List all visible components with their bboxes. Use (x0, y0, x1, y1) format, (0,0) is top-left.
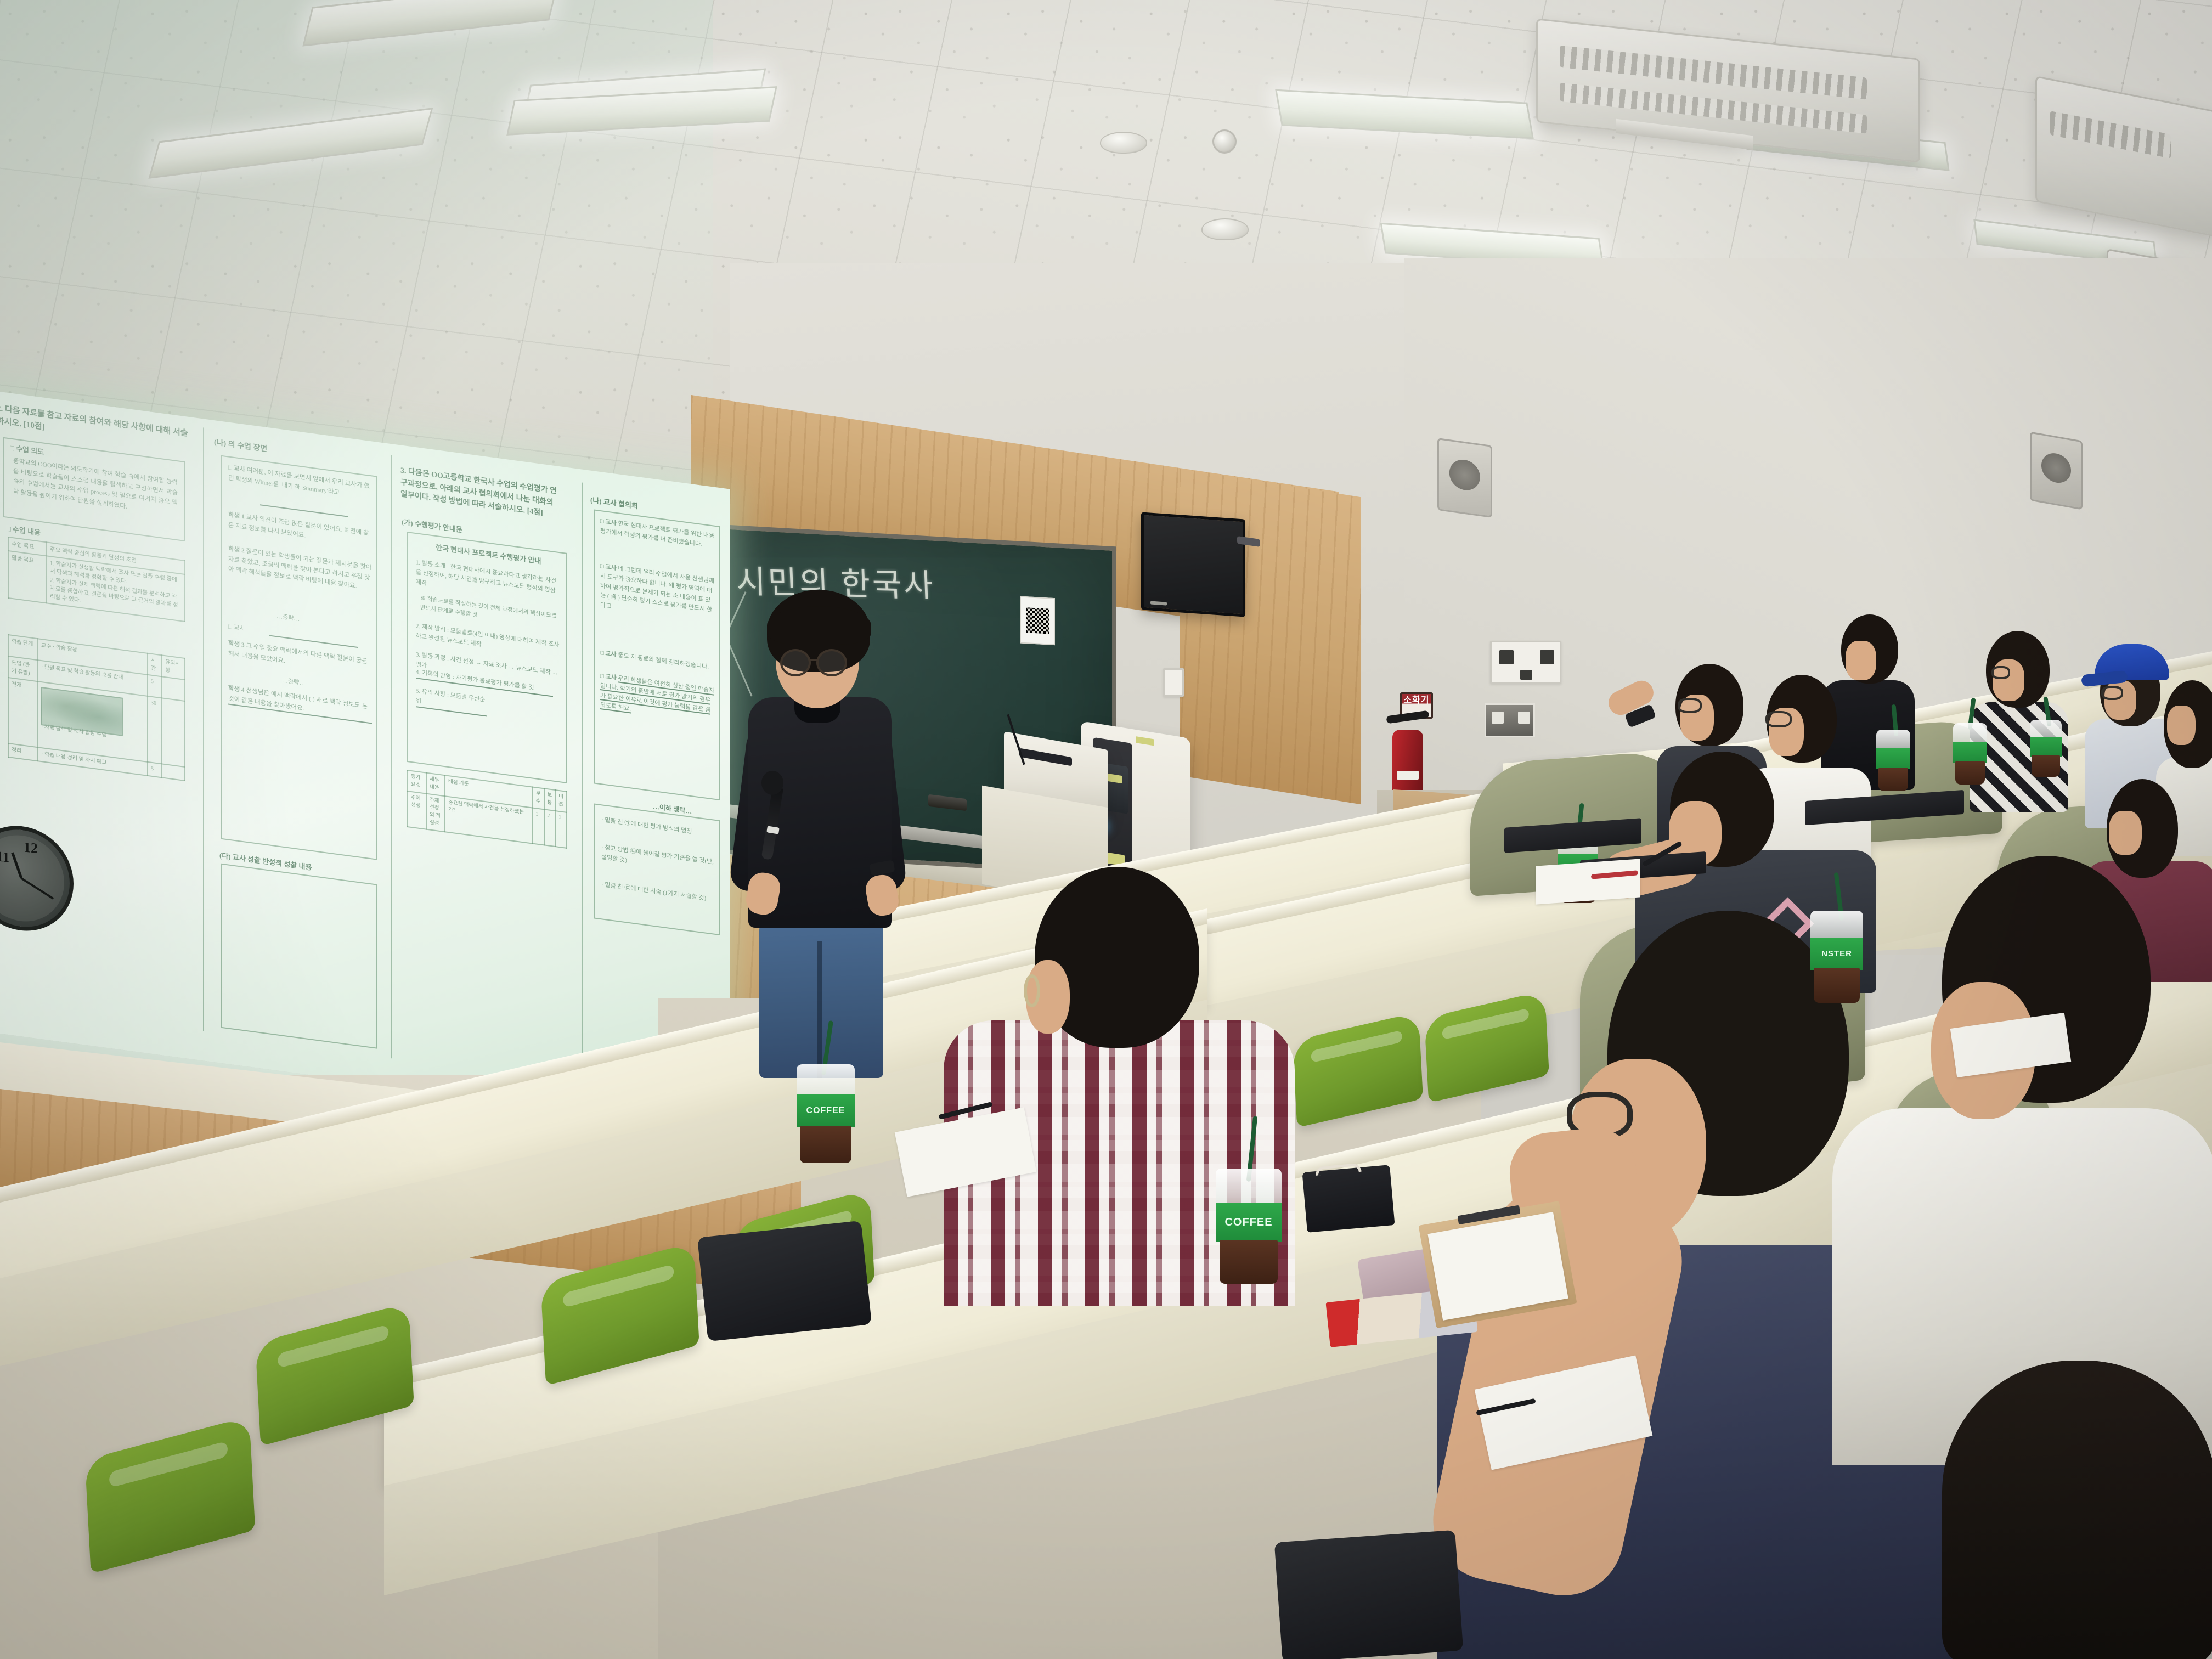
slide-col4-f2: · 밑줄 친 ㉢에 대한 서술 (1가지 서술할 것) (601, 880, 714, 905)
slide-col1-t2-r2c2: 5 (148, 762, 162, 777)
slide-col2-b0: □ 교사 여러분, 이 자료를 보면서 앞에서 우리 교사가 했던 학생의 Wi… (228, 463, 372, 503)
black-pencil-pouch[interactable] (1302, 1165, 1395, 1233)
iced-coffee-cup-3[interactable]: NSTER (1810, 911, 1863, 1003)
cup-sleeve-2: COFFEE (1216, 1203, 1282, 1242)
slide-col1-t2-r1c3 (162, 698, 185, 767)
slide-col4-b3-text: 우리 학생들은 여전히 성장 중인 학습자입니다. 학기의 중반에 서로 평가 … (600, 675, 714, 714)
cup-lid-5 (1876, 730, 1910, 751)
slide-col3-box: 한국 현대사 프로젝트 수행평가 안내 1. 활동 소개 : 한국 현대사에서 … (407, 532, 567, 783)
clock-hour-hand (11, 853, 22, 879)
cup-sleeve-7 (2030, 737, 2062, 756)
slide-col2-b1-text: 교사 의견이 조금 많은 질문이 있어요. 예전에 찾은 자료 정보를 다시 보… (228, 514, 369, 539)
slide-col4-b1-text: 네 그런데 우리 수업에서 사용 선생님께서 도구가 중요하다 합니다. 왜 평… (600, 565, 714, 613)
slide-col3-t-col1: 세부 내용 (426, 773, 445, 796)
slide-col2-b7-label: 학생 4 (228, 685, 245, 694)
slide-col4-footer-box: · 밑줄 친 ㉠에 대한 평가 방식의 명칭 · 참고 방법 ㉡에 들어갈 평가… (594, 803, 720, 935)
slide-col3-heading: 3. 다음은 OO고등학교 한국사 수업의 수업평가 연구과정으로, 아래의 교… (400, 465, 561, 522)
panel-switch-2[interactable] (1540, 650, 1554, 664)
clock-numeral-11: 11 (0, 848, 10, 866)
slide-col4-b0: □ 교사 한국 현대사 프로젝트 평가를 위한 내용 평가에서 학생의 평가를 … (600, 517, 715, 552)
fire-extinguisher-sign-label: 소화기 (1402, 694, 1431, 704)
presenter-jeans-seam (817, 941, 822, 1078)
attendee-hair-11 (1942, 1361, 2212, 1659)
slide-col2-box: □ 교사 여러분, 이 자료를 보면서 앞에서 우리 교사가 했던 학생의 Wi… (221, 455, 377, 860)
presenter-hair-fringe (767, 606, 871, 645)
cup-sleeve-6 (1953, 742, 1987, 763)
cup-lid-3 (1810, 911, 1863, 942)
slide-col2-b5: 학생 3 그 수업 중요 맥락에서의 다른 맥락 질문이 궁금해서 내용을 모았… (228, 639, 372, 678)
clock-minute-hand (21, 877, 54, 899)
slide-col3-t-col5: 미흡 (555, 790, 567, 812)
light-switch-plate[interactable] (1163, 668, 1184, 697)
cup-liquid-1 (800, 1126, 851, 1163)
panel-switch-1[interactable] (1499, 650, 1514, 664)
slide-col4-b0-text: 한국 현대사 프로젝트 평가를 위한 내용 평가에서 학생의 평가를 더 준비했… (600, 520, 714, 548)
cup-sleeve-3: NSTER (1810, 938, 1863, 969)
long-hair-foreground-attendee (1942, 1361, 2212, 1659)
slide-col3-t-r0c1: 주제 선정의 적절성 (426, 793, 445, 832)
slide-col2-heading: (나) 의 수업 장면 (214, 437, 267, 456)
slide-col1-table: 수업 목표 주요 맥락 중심의 활동과 달성의 초점 활동 목표 1. 학습자가… (8, 537, 185, 623)
cup-lid-6 (1953, 723, 1987, 744)
ceiling-speaker-left (1437, 438, 1492, 518)
clock-numeral-12: 12 (24, 839, 38, 857)
lecture-hall-photo: 시민의 한국사 소화기 2. 다음 자료를 참고 자료의 참여와 해당 사항에 … (0, 0, 2212, 1659)
cup-sleeve-1: COFFEE (797, 1094, 855, 1127)
iced-coffee-cup-6[interactable] (1953, 723, 1987, 785)
attendee-glasses-7 (1765, 711, 1792, 727)
electrical-panel-a (1490, 641, 1561, 684)
slide-col1-block1-label: □ 수업 내용 (7, 523, 41, 539)
extinguisher-label (1397, 771, 1419, 780)
cup-liquid-6 (1955, 761, 1985, 785)
slide-col2-b0-label: □ 교사 (228, 465, 245, 473)
cup-lid-1 (797, 1064, 855, 1098)
slide-col4-b2-label: □ 교사 (600, 650, 617, 658)
slide-col2-b2-text: 질문이 있는 학생들이 되는 질문과 제시문을 찾아 자료 찾았고, 조금씩 맥… (228, 548, 372, 590)
attendee-face-4 (2167, 706, 2196, 745)
presenter (735, 590, 944, 1073)
smoke-detector (1100, 132, 1147, 154)
slide-col2-b1-label: 학생 1 (228, 512, 245, 521)
cup-liquid-5 (1878, 768, 1909, 791)
slide-col4-b2-text: 좋으 지 동료와 함께 정리하겠습니다. (618, 652, 709, 670)
slide-col1-block0-text: 중학교의 OOO이라는 의도학기에 참여 학습 속에서 참여할 능력을 바탕으로… (13, 456, 178, 519)
backpack[interactable] (697, 1221, 872, 1341)
slide-col1-block0-label: □ 수업 의도 (10, 442, 44, 458)
slide-col3-table: 평가 요소 세부 내용 배점 기준 우수 보통 미흡 주제 선정 주제 선정의 … (407, 770, 567, 849)
slide-col4-f0: · 밑줄 친 ㉠에 대한 평가 방식의 명칭 (601, 815, 714, 840)
attendee-glasses-2 (1991, 666, 2010, 679)
slide-col2-b6: …중략… (282, 676, 305, 689)
slide-col4-b1-label: □ 교사 (600, 563, 617, 572)
clipboard-paper (1427, 1212, 1568, 1321)
wall-recess-panel (1485, 703, 1535, 737)
slide-col1-t2-col3: 유의사항 (162, 655, 185, 680)
slide-col1-t2-r0c2: 5 (148, 675, 162, 698)
wall-mounted-display[interactable] (1141, 512, 1245, 617)
slide-col4-f1: · 참고 방법 ㉡에 들어갈 평가 기준을 쓸 것(단, 설명할 것) (601, 843, 714, 877)
slide-col1-table2: 학습 단계 교수 · 학습 활동 시간 유의사항 도입 (동기 유발) · 단원… (8, 634, 185, 781)
presenter-glasses-left-lens (780, 649, 811, 676)
fire-extinguisher (1392, 730, 1423, 795)
slide-col3-t-col3: 우수 (533, 787, 544, 809)
cup-liquid-7 (2032, 755, 2059, 777)
slide-col3-t-col4: 보통 (544, 788, 556, 810)
cup-lid-7 (2030, 720, 2062, 739)
slide-col4-box: □ 교사 한국 현대사 프로젝트 평가를 위한 내용 평가에서 학생의 평가를 … (594, 509, 720, 800)
attendee-glasses-3 (2101, 686, 2123, 700)
slide-divider-1 (203, 427, 204, 1031)
iced-coffee-cup-2[interactable]: COFFEE (1216, 1169, 1282, 1284)
chair-handle-slot-5 (1311, 1030, 1402, 1063)
slide-col3-t-r0c5: 1 (555, 811, 567, 848)
slide-col3-t-r0c0: 주제 선정 (408, 791, 426, 830)
iced-coffee-cup-5[interactable] (1876, 730, 1910, 791)
qr-code-icon (1026, 607, 1049, 634)
lectern-sticker-3 (1136, 736, 1154, 746)
cup-liquid-3 (1814, 968, 1860, 1003)
sprinkler-head (1212, 129, 1237, 154)
qr-code-sign (1020, 596, 1055, 646)
iced-coffee-cup-1[interactable]: COFFEE (797, 1064, 855, 1163)
recess-switch-1[interactable] (1492, 712, 1504, 724)
slide-col3-item-5: 5. 유의 사항 : 모둠별 우선순위 (416, 686, 487, 716)
attendee-face-5 (2109, 811, 2142, 855)
ceiling-speaker-right (2030, 432, 2083, 510)
slide-col2-b0-text: 여러분, 이 자료를 보면서 앞에서 우리 교사가 했던 학생의 Winner를… (228, 467, 370, 496)
recess-switch-2[interactable] (1518, 712, 1530, 724)
attendee-glasses-6 (1678, 698, 1702, 713)
iced-coffee-cup-7[interactable] (2030, 720, 2062, 777)
slide-col1-t2-col2: 시간 (148, 653, 162, 676)
slide-col2-b2: 학생 2 질문이 있는 학생들이 되는 질문과 제시문을 찾아 자료 찾았고, … (228, 544, 372, 594)
backpack-2[interactable] (1274, 1530, 1464, 1659)
slide-col1-t2-r1c2: 30 (148, 696, 162, 764)
slide-divider-3 (582, 482, 583, 1075)
slide-col2-footer-box (221, 864, 377, 1049)
slide-col2-b7: 학생 4 선생님은 예시 맥락에서 ( ) 새로 맥락 정보도 본 것이 같은 … (228, 684, 372, 724)
slide-col3-t-r0c4: 2 (544, 809, 556, 847)
slide-col2-blank-1 (260, 504, 348, 517)
slide-col2-b1: 학생 1 교사 의견이 조금 많은 질문이 있어요. 예전에 찾은 자료 정보를… (228, 510, 372, 550)
panel-switch-3[interactable] (1520, 670, 1532, 680)
ac-vent-slats-3 (2050, 111, 2171, 159)
cup-lid-2 (1216, 1169, 1282, 1207)
cup-liquid-2 (1220, 1240, 1278, 1284)
presenter-glasses-right-lens (816, 649, 847, 676)
slide-col2-b2-label: 학생 2 (228, 546, 245, 555)
slide-col2-b4: □ 교사 (228, 622, 245, 635)
slide-col2-b3: …중략… (276, 612, 300, 624)
slide-col3-t-col0: 평가 요소 (408, 770, 426, 793)
slide-col1-t2-r0c3 (162, 676, 185, 701)
slide-col3-t-r0c3: 3 (533, 808, 544, 845)
notepad-3[interactable] (1536, 859, 1640, 904)
clock-face: 12 11 10 8 (0, 831, 64, 926)
slide-col4-b2: □ 교사 좋으 지 동료와 함께 정리하겠습니다. (600, 648, 715, 674)
speaker-cone-icon (1449, 458, 1480, 492)
attendee-glasses-temple (1024, 974, 1040, 1007)
slide-col4-b3: □ 교사 우리 학생들은 여전히 성장 중인 학습자입니다. 학기의 중반에 서… (600, 672, 715, 726)
projection-screen: 2. 다음 자료를 참고 자료의 참여와 해당 사항에 대해 서술하시오. [1… (0, 390, 730, 1131)
slide-divider-2 (391, 455, 392, 1058)
cup-sleeve-5 (1876, 748, 1910, 769)
presenter-glasses-bridge (810, 659, 819, 661)
smoke-detector-2 (1201, 218, 1249, 240)
slide-col2-b5-label: 학생 3 (228, 640, 245, 649)
speaker-cone-icon-2 (2041, 451, 2071, 485)
slide-col4-b0-label: □ 교사 (600, 518, 617, 527)
slide-col1-table-r0c0: 활동 목표 (8, 551, 47, 603)
slide-col4-b3-label: □ 교사 (600, 673, 617, 681)
slide-col1-t2-r2c3 (162, 764, 185, 780)
slide-col4-b1: □ 교사 네 그런데 우리 수업에서 사용 선생님께서 도구가 중요하다 합니다… (600, 562, 715, 626)
microphone-head-icon (761, 771, 783, 795)
slide-col2-b7-text: 선생님은 예시 맥락에서 ( ) 새로 맥락 정보도 본 것이 같은 내용을 찾… (228, 687, 368, 712)
display-brand-logo (1150, 601, 1167, 606)
slide-col1-t2-r1c0: 전개 (8, 678, 38, 747)
